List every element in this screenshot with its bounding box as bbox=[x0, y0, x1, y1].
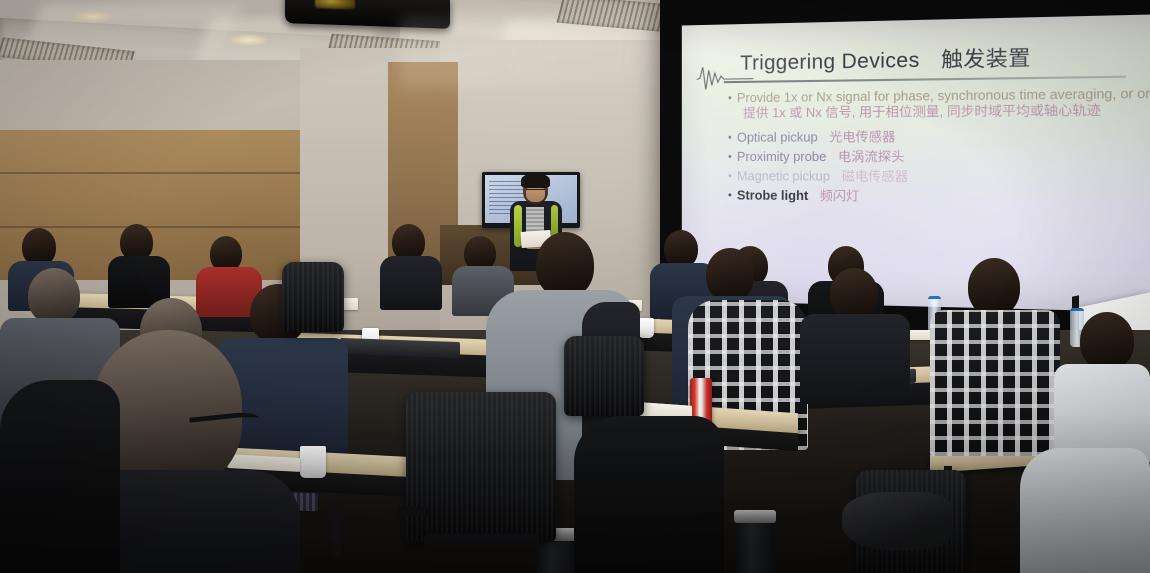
attendee-torso bbox=[1020, 448, 1150, 573]
chair-arm[interactable] bbox=[398, 506, 428, 516]
attendee-torso bbox=[800, 314, 910, 404]
slide-title-rule bbox=[724, 76, 1126, 83]
attendee-head bbox=[536, 232, 594, 298]
eyeglasses-icon bbox=[526, 189, 545, 194]
bullet-marker: • bbox=[728, 91, 732, 106]
slide-title-cn: 触发装置 bbox=[941, 47, 1031, 72]
chair-base[interactable] bbox=[424, 534, 540, 548]
attendee-torso bbox=[380, 256, 442, 310]
office-chair-back[interactable] bbox=[282, 262, 344, 332]
attendee-white-shirt bbox=[1054, 312, 1150, 452]
bullet-text-cn: 磁电传感器 bbox=[842, 169, 909, 185]
backpack bbox=[842, 492, 952, 550]
slide-bullet-list: • Provide 1x or Nx signal for phase, syn… bbox=[728, 86, 1150, 212]
attendee-plaid-right bbox=[930, 258, 1060, 448]
attendee-dark-top bbox=[800, 268, 910, 388]
thermos bbox=[736, 516, 774, 573]
attendee-torso bbox=[0, 380, 120, 573]
bullet-marker: • bbox=[728, 188, 732, 203]
bullet-text: Proximity probe bbox=[737, 150, 826, 165]
bullet-marker: • bbox=[728, 169, 732, 184]
downlight-1 bbox=[70, 10, 116, 23]
bullet-text: Strobe light bbox=[737, 188, 808, 204]
attendee-head bbox=[706, 248, 754, 302]
slide-bullet: • Provide 1x or Nx signal for phase, syn… bbox=[728, 86, 1150, 122]
slide-bullet: • Proximity probe 电涡流探头 bbox=[728, 149, 1150, 165]
office-chair-mid[interactable] bbox=[564, 336, 644, 416]
attendee-head bbox=[28, 268, 80, 324]
slide-bullet: • Magnetic pickup 磁电传感器 bbox=[728, 169, 1150, 186]
attendee-torso-plaid bbox=[930, 310, 1060, 456]
slide-bullet: • Strobe light 频闪灯 bbox=[728, 188, 1150, 207]
bullet-text: Magnetic pickup bbox=[737, 169, 830, 185]
slide-bullet: • Optical pickup 光电传感器 bbox=[728, 128, 1150, 145]
paper-cup bbox=[638, 318, 654, 338]
attendee-head bbox=[830, 268, 878, 320]
paper-cup-foreground bbox=[300, 446, 326, 478]
bullet-text-cn: 电涡流探头 bbox=[838, 150, 904, 166]
downlight-2 bbox=[228, 34, 268, 46]
attendee-head bbox=[968, 258, 1020, 316]
panel-seam bbox=[0, 172, 300, 174]
bullet-text-cn: 提供 1x 或 Nx 信号, 用于相位测量, 同步时域平均或轴心轨迹 bbox=[743, 103, 1101, 120]
attendee-white-front bbox=[1020, 448, 1150, 573]
bullet-marker: • bbox=[728, 150, 732, 165]
bullet-marker: • bbox=[728, 131, 732, 146]
slide-title-en: Triggering Devices bbox=[740, 49, 920, 75]
thermos-cap bbox=[734, 510, 776, 523]
attendee-black-jacket bbox=[0, 380, 120, 573]
office-chair-foreground[interactable] bbox=[406, 392, 556, 542]
attendee-torso bbox=[574, 416, 724, 573]
attendee-dark-top-back bbox=[380, 224, 442, 308]
bullet-text-cn: 光电传感器 bbox=[829, 130, 895, 146]
presenter-hair bbox=[521, 173, 550, 188]
attendee-dark-foreground-right bbox=[574, 416, 724, 573]
attendee-head bbox=[1080, 312, 1134, 370]
bullet-text-cn: 频闪灯 bbox=[820, 189, 859, 205]
slide-title: Triggering Devices 触发装置 bbox=[740, 41, 1031, 76]
projector-lens-icon bbox=[315, 0, 355, 10]
bullet-text: Optical pickup bbox=[737, 130, 818, 146]
classroom-scene: Triggering Devices 触发装置 • Provide 1x or … bbox=[0, 0, 1150, 573]
desk-leg bbox=[332, 500, 341, 556]
